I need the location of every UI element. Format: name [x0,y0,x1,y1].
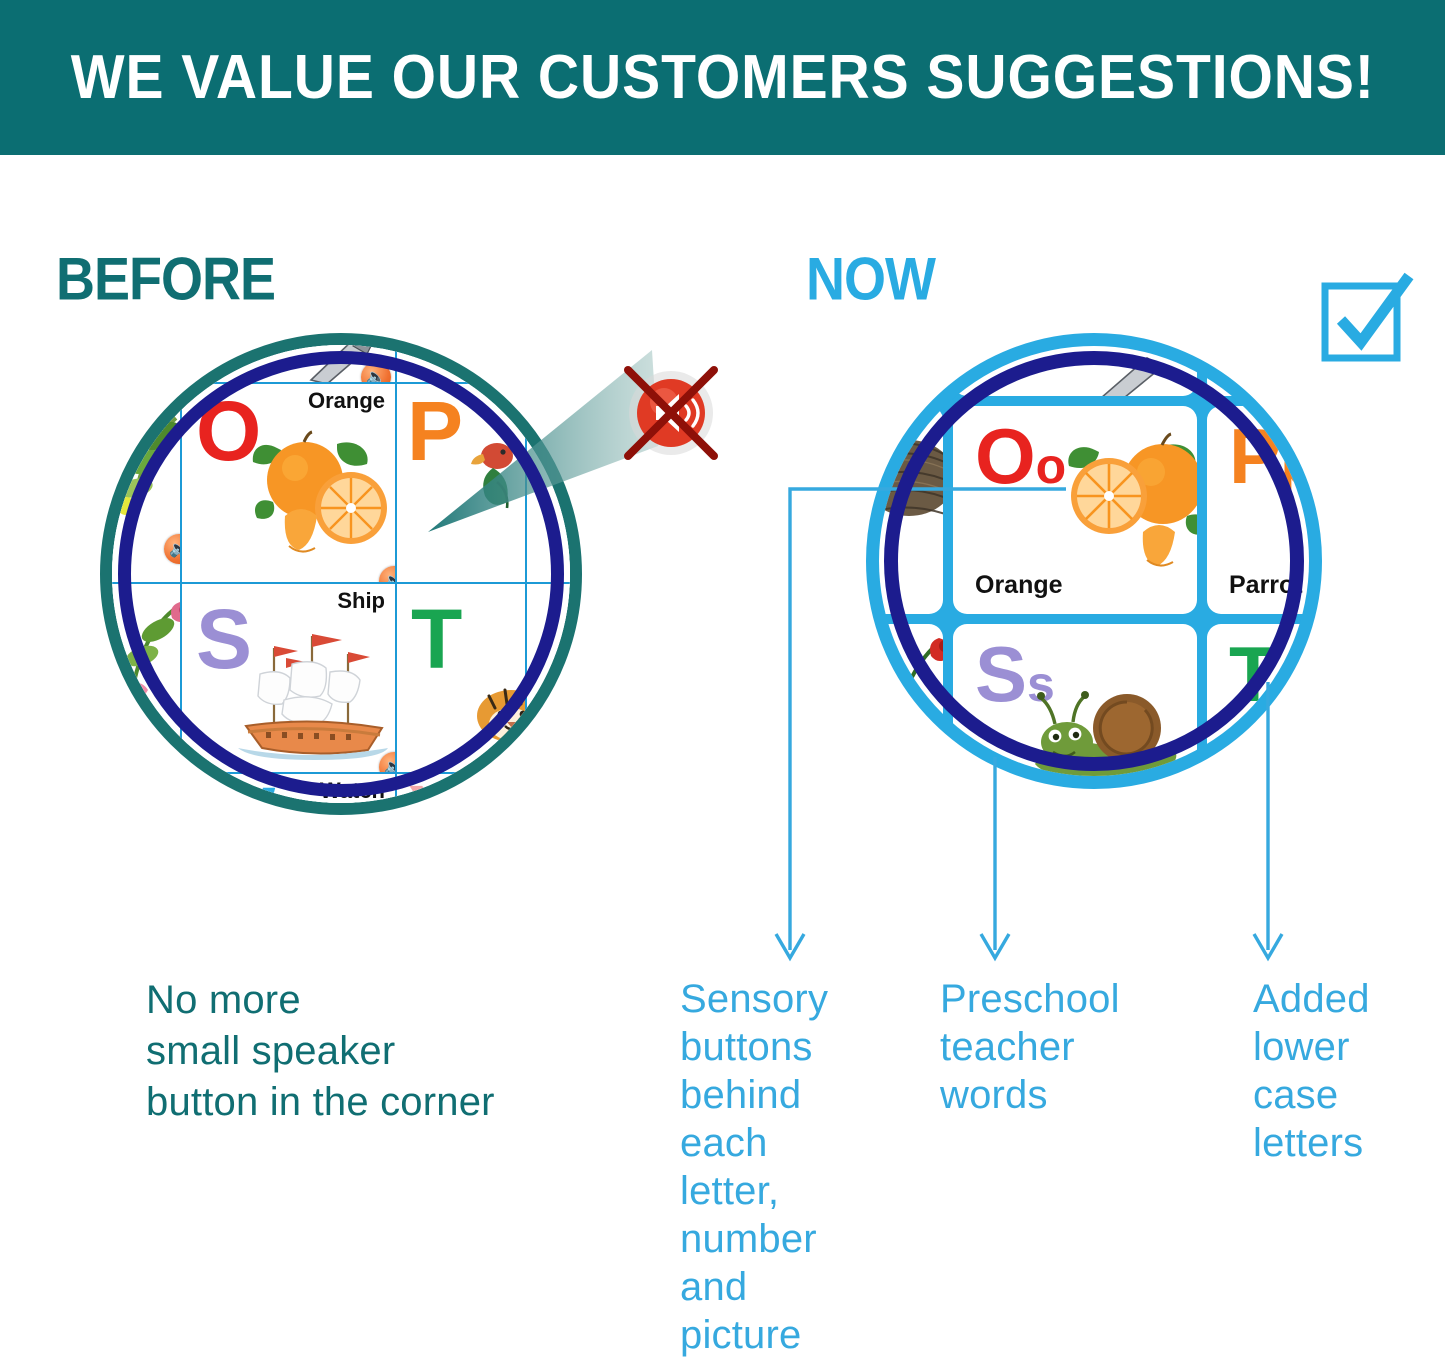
table-cell [526,773,582,815]
word-label: Orange [308,388,385,414]
ship-pic [230,614,395,764]
table-cell: O Orange [181,383,396,583]
table-cell [866,406,943,614]
section-label-now: NOW [806,245,935,314]
letter-glyph: Tt [1229,640,1293,709]
knife-pic [1095,348,1173,396]
table-cell: 🔈 [181,333,396,383]
now-alphabet-board: Oo Orange [866,333,1322,789]
nest-pic [866,420,943,530]
letter-glyph: Oo [975,422,1066,491]
rose-pic [106,594,181,714]
table-cell [866,624,943,789]
table-cell: X [396,773,526,815]
word-label: Ship [337,588,385,614]
speaker-icon[interactable]: 🔈 [379,566,396,583]
tiger-pic [465,674,526,754]
word-label: Tiger [1229,777,1290,789]
watch-pic [263,798,391,815]
table-cell [953,333,1197,396]
table-cell: S Ship [181,583,396,773]
speaker-icon[interactable]: 🔈 [164,534,181,564]
table-cell: Ss Snail [953,624,1197,789]
table-cell: 🔈 [100,583,181,773]
letter-glyph: T [411,602,462,678]
table-cell: Pp Parrot [1207,406,1322,614]
now-magnifier-circle: Oo Orange [866,333,1322,789]
page-title: WE VALUE OUR CUSTOMERS SUGGESTIONS! [70,42,1374,113]
orange-fruit-pic [1059,424,1197,584]
table-cell: Oo Orange [953,406,1197,614]
caption-sensory-buttons: Sensory buttons behind each letter, numb… [680,975,870,1359]
speaker-icon[interactable]: 🔈 [361,362,391,383]
leaf-pic [106,412,181,520]
callout-arrowhead-2 [981,934,1009,958]
caption-lowercase-letters: Added lower case letters [1253,975,1443,1167]
table-cell: T [396,583,526,773]
word-label: Snail [975,777,1035,789]
callout-arrowhead-3 [1254,934,1282,958]
crossed-out-speaker-icon [616,358,726,468]
caption-preschool-words: Preschool teacher words [940,975,1170,1119]
header-banner: WE VALUE OUR CUSTOMERS SUGGESTIONS! [0,0,1445,155]
speaker-icon[interactable]: 🔈 [164,736,181,766]
table-cell [100,773,181,815]
table-cell [526,583,582,773]
letter-glyph: Pp [1229,422,1312,491]
table-cell: W Watch 🔈 [181,773,396,815]
table-cell: Tt Tiger [1207,624,1322,789]
table-cell [100,333,181,383]
caption-before: No more small speaker button in the corn… [146,975,666,1129]
callout-arrowhead-1 [776,934,804,958]
table-cell [866,333,943,396]
word-label: Orange [975,571,1063,600]
check-box-icon [1315,268,1415,368]
rose-pic [866,628,943,758]
letter-glyph: X [407,778,463,815]
snail-pic [1025,676,1195,789]
table-cell: 🔈 [100,383,181,583]
orange-fruit-pic [243,418,391,568]
section-label-before: BEFORE [56,245,275,314]
table-cell [1207,333,1322,396]
word-label: Parrot [1229,571,1303,600]
